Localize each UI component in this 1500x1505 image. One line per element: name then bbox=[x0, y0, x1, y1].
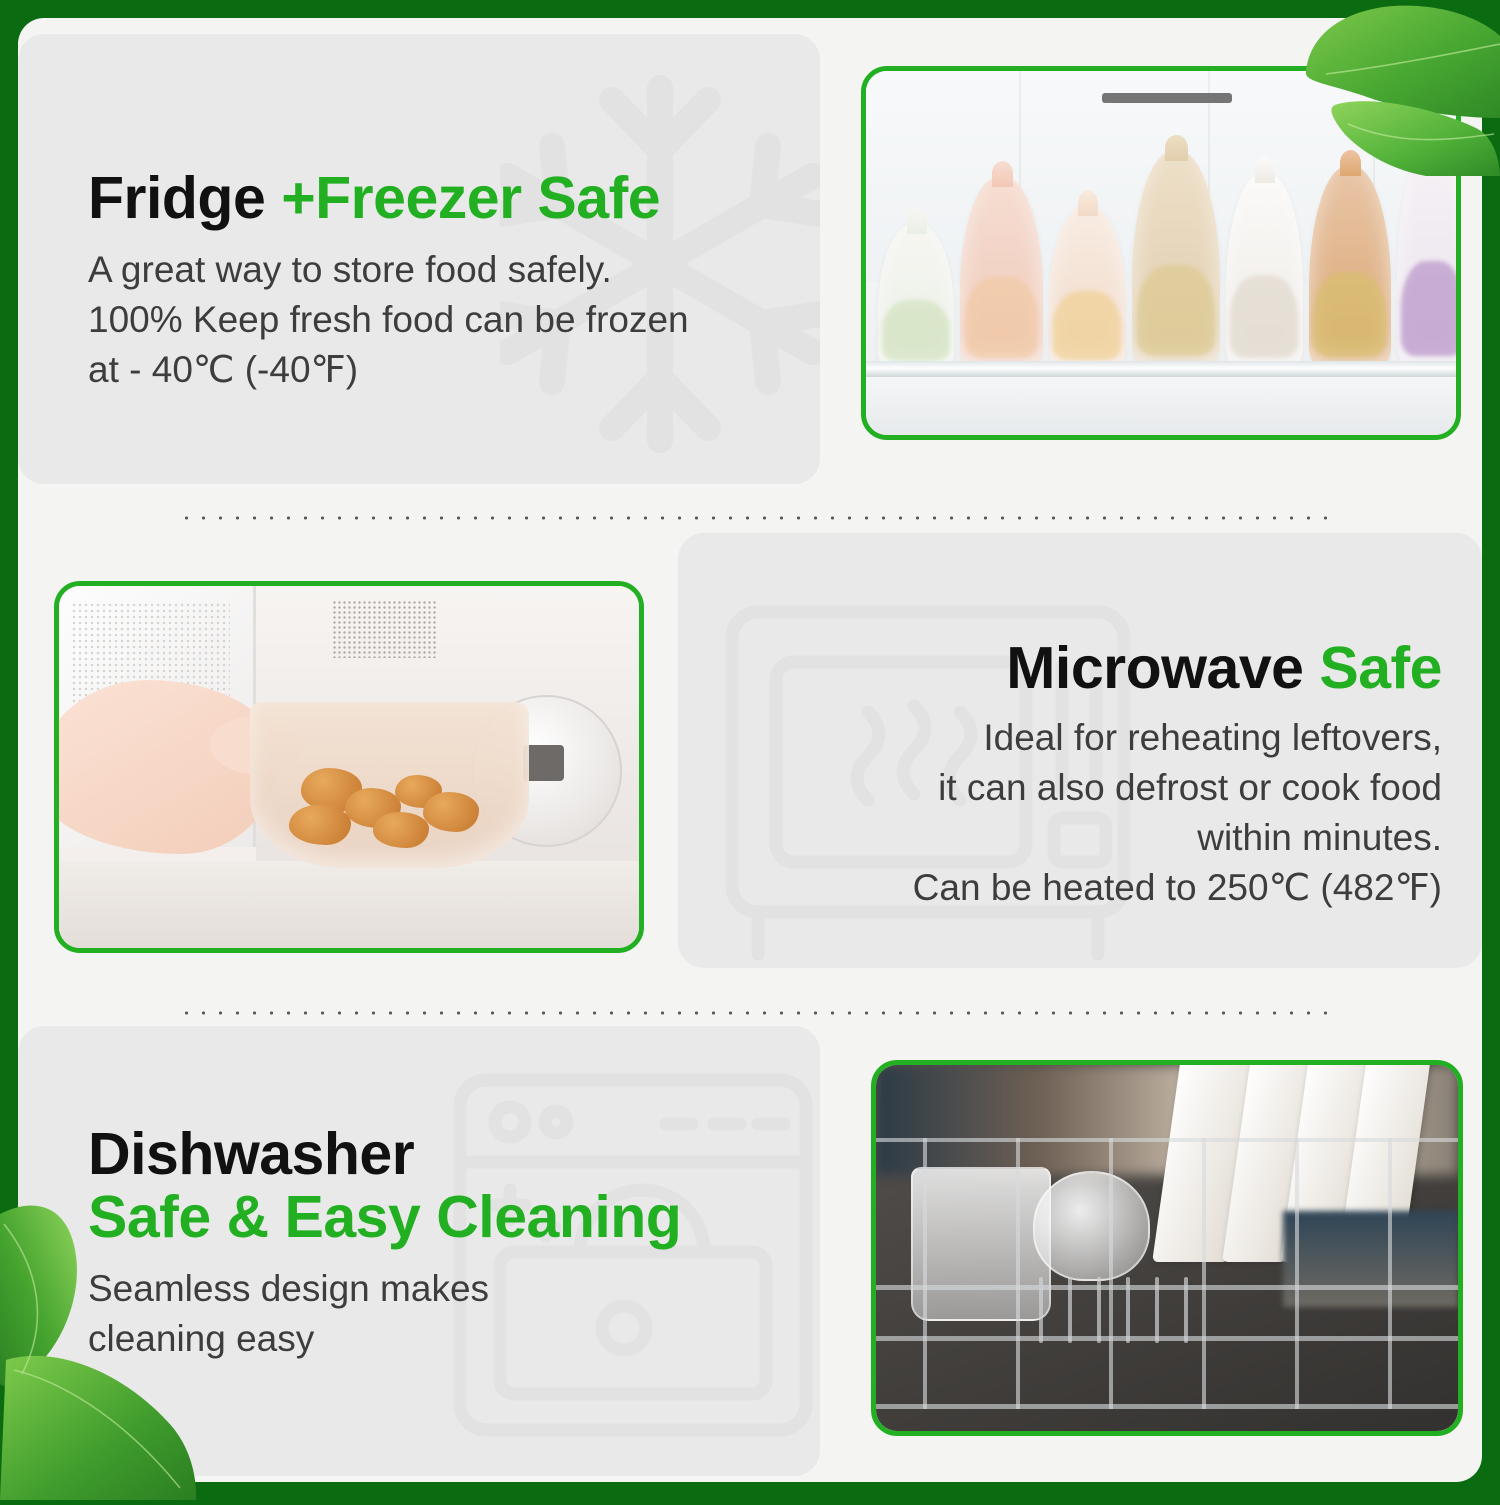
body-line: Can be heated to 250℃ (482℉) bbox=[702, 863, 1442, 913]
body-line: A great way to store food safely. bbox=[88, 245, 808, 295]
headline-green-fridge: +Freezer Safe bbox=[281, 165, 660, 231]
body-line: it can also defrost or cook food bbox=[702, 763, 1442, 813]
headline-black-fridge: Fridge bbox=[88, 165, 281, 231]
body-line: at - 40℃ (-40℉) bbox=[88, 345, 808, 395]
photo-microwave-with-bag bbox=[54, 581, 644, 953]
mint-leaf-icon bbox=[1250, 0, 1500, 200]
panel-headline-fridge: Fridge +Freezer Safe bbox=[88, 168, 808, 229]
mint-leaf-icon bbox=[0, 1170, 240, 1500]
panel-text-fridge: Fridge +Freezer Safe A great way to stor… bbox=[88, 168, 808, 395]
dotted-divider bbox=[178, 1011, 1338, 1015]
panel-body-fridge: A great way to store food safely. 100% K… bbox=[88, 245, 808, 395]
panel-headline-microwave: Microwave Safe bbox=[702, 638, 1442, 699]
panel-text-microwave: Microwave Safe Ideal for reheating lefto… bbox=[702, 638, 1442, 913]
headline-green-microwave: Safe bbox=[1319, 635, 1442, 701]
dotted-divider bbox=[178, 516, 1338, 520]
body-line: 100% Keep fresh food can be frozen bbox=[88, 295, 808, 345]
headline-black-microwave: Microwave bbox=[1006, 635, 1319, 701]
product-feature-poster: Fridge +Freezer Safe A great way to stor… bbox=[0, 0, 1500, 1500]
panel-body-microwave: Ideal for reheating leftovers, it can al… bbox=[702, 713, 1442, 913]
body-line: Ideal for reheating leftovers, bbox=[702, 713, 1442, 763]
body-line: within minutes. bbox=[702, 813, 1442, 863]
photo-dishwasher-rack bbox=[871, 1060, 1463, 1436]
